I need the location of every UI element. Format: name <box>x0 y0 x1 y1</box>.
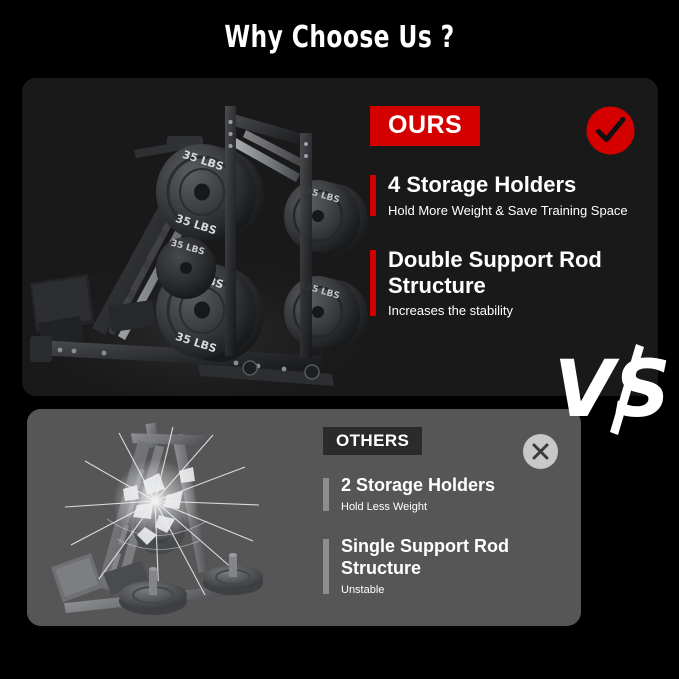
x-circle-icon <box>522 433 559 470</box>
feature-title: Single Support Rod Structure <box>341 536 573 578</box>
accent-bar <box>323 478 329 511</box>
ours-product-image: 35 LBS 35 LBS 35 LBS 35 LBS 35 LBS <box>22 78 372 396</box>
feature-title: 2 Storage Holders <box>341 475 573 496</box>
ours-feature-1: 4 Storage Holders Hold More Weight & Sav… <box>370 172 658 219</box>
page-title: Why Choose Us ? <box>75 20 605 55</box>
ours-feature-2: Double Support Rod Structure Increases t… <box>370 247 658 320</box>
feature-subtitle: Increases the stability <box>388 303 658 319</box>
vs-label: VS <box>554 345 668 435</box>
accent-bar <box>370 250 376 317</box>
others-panel: OTHERS 2 Storage Holders Hold Less Weigh… <box>27 409 581 626</box>
accent-bar <box>370 175 376 216</box>
accent-bar <box>323 539 329 594</box>
feature-subtitle: Hold More Weight & Save Training Space <box>388 203 658 219</box>
others-badge: OTHERS <box>323 427 422 455</box>
feature-title: 4 Storage Holders <box>388 172 658 198</box>
others-feature-1: 2 Storage Holders Hold Less Weight <box>323 475 573 514</box>
vs-badge: VS <box>548 336 668 436</box>
feature-subtitle: Unstable <box>341 584 573 597</box>
feature-subtitle: Hold Less Weight <box>341 501 573 514</box>
feature-title: Double Support Rod Structure <box>388 247 658 299</box>
check-circle-icon <box>585 105 636 156</box>
ours-badge: OURS <box>370 106 480 146</box>
others-product-image <box>27 409 327 626</box>
others-feature-2: Single Support Rod Structure Unstable <box>323 536 573 597</box>
